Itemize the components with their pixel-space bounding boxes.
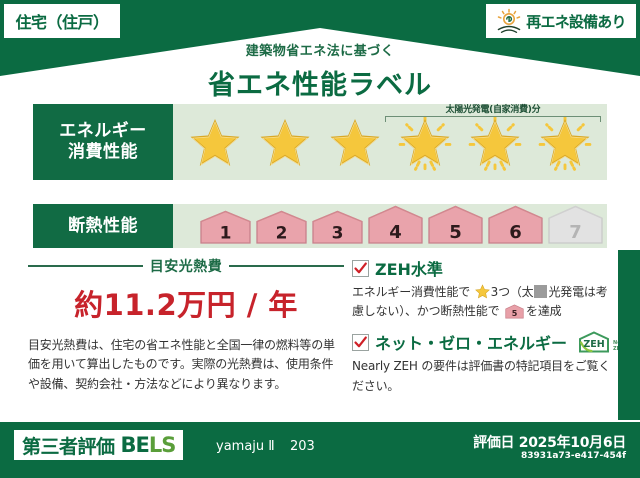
utility-cost-note: 目安光熱費は、住宅の省エネ性能と全国一律の燃料等の単価を用いて算出したものです。… [28,336,344,394]
star-filled [321,112,389,174]
zeh-standard-header: ZEH水準 [352,256,616,280]
star-icon [533,113,597,173]
insulation-levels-panel: 1 2 3 4 5 6 7 [173,204,607,248]
right-green-strip [618,250,640,420]
rule-right [229,265,344,267]
renewable-equipment-label: 再エネ設備あり [526,11,625,32]
utility-cost-amount: 約11.2万円 / 年 [28,282,344,324]
net-zero-energy-header: ネット・ゼロ・エネルギー ZEH NearlyZEH [352,330,616,354]
zeh-standard-body: エネルギー消費性能で 3つ（太光発電は考慮しない）、かつ断熱性能で 5 を達成 [352,283,616,321]
redaction-block [534,285,547,298]
third-party-label: 第三者評価 [22,432,115,459]
housing-type-badge: 住宅（住戸） [4,4,120,38]
net-zero-energy-item: ネット・ゼロ・エネルギー ZEH NearlyZEH Nearly ZEH の要… [352,330,616,395]
house-badge-icon: 5 [427,205,484,245]
utility-cost-label: 目安光熱費 [150,256,223,276]
solar-generation-bracket: 太陽光発電(自家消費)分 [385,102,601,122]
zeh-standard-title: ZEH水準 [375,256,443,280]
insulation-level-inactive: 7 [547,205,604,245]
building-name: yamaju Ⅱ [216,439,275,454]
insulation-level-value: 5 [449,222,462,243]
bracket-line [385,116,601,122]
net-zero-energy-body: Nearly ZEH の要件は評価書の特記項目をご覧ください。 [352,357,616,395]
insulation-level-achieved: 4 [367,205,424,245]
star-filled [181,112,249,174]
housing-type-label: 住宅（住戸） [15,9,108,33]
star-filled [251,112,319,174]
insulation-level-achieved: 2 [255,210,308,245]
page-title: 省エネ性能ラベル [0,63,640,102]
zeh-body-post: を達成 [526,304,561,318]
house-badge-icon: 3 [311,210,364,245]
insulation-level-achieved: 1 [199,210,252,245]
title-subtitle: 建築物省エネ法に基づく [0,40,640,59]
sun-icon [496,8,522,34]
title-block: 建築物省エネ法に基づく 省エネ性能ラベル [0,40,640,102]
zeh-standard-item: ZEH水準 エネルギー消費性能で 3つ（太光発電は考慮しない）、かつ断熱性能で … [352,256,616,321]
evaluation-date: 評価日 2025年10月6日 [473,432,626,452]
net-zero-energy-title: ネット・ゼロ・エネルギー [375,330,567,354]
star-icon [253,113,317,173]
insulation-tag-label: 断熱性能 [68,216,138,237]
house-badge-icon: 6 [487,205,544,245]
energy-tag-line2: 消費性能 [68,142,138,163]
footer-bar: 第三者評価 BELS yamaju Ⅱ 203 評価日 2025年10月6日 8… [0,422,640,478]
renewable-equipment-badge: 再エネ設備あり [486,4,636,38]
insulation-level-scale: 1 2 3 4 5 6 7 [199,205,604,245]
insulation-performance-tag: 断熱性能 [33,204,173,248]
insulation-level-value: 1 [220,224,232,244]
evaluation-id: 83931a73-e417-454f [521,451,626,461]
energy-performance-tag: エネルギー 消費性能 [33,104,173,180]
insulation-performance-row: 断熱性能 1 2 3 4 5 [33,204,607,248]
utility-cost-heading: 目安光熱費 [28,256,344,276]
inline-level-value: 5 [512,309,518,318]
insulation-level-value: 7 [569,222,582,243]
zeh-house-logo-icon: ZEH [577,330,611,354]
bels-energy-label: 住宅（住戸） 再エネ設備あり 建築物省エネ法に基づく 省エネ性能ラベル [0,0,640,478]
insulation-level-achieved: 5 [427,205,484,245]
solar-bracket-label: 太陽光発電(自家消費)分 [385,102,601,115]
insulation-level-value: 4 [389,222,402,243]
star-icon [475,284,490,299]
check-icon [353,261,368,276]
insulation-level-inline-icon: 5 [505,304,524,319]
zeh-standard-checkbox[interactable] [352,260,369,277]
star-icon [323,113,387,173]
utility-cost-block: 目安光熱費 約11.2万円 / 年 目安光熱費は、住宅の省エネ性能と全国一律の燃… [28,256,344,394]
zeh-body-mid: 3つ（太 [491,285,534,299]
bels-third-party-badge: 第三者評価 BELS [14,430,183,460]
net-zero-energy-checkbox[interactable] [352,334,369,351]
energy-stars-panel: 太陽光発電(自家消費)分 [173,104,607,180]
star-icon [463,113,527,173]
insulation-level-achieved: 3 [311,210,364,245]
star-icon [393,113,457,173]
insulation-level-achieved: 6 [487,205,544,245]
zeh-logo-text: ZEH [583,339,604,350]
rule-left [28,265,143,267]
house-badge-icon: 1 [199,210,252,245]
check-icon [353,335,368,350]
zeh-body-pre: エネルギー消費性能で [352,285,470,299]
star-icon [183,113,247,173]
energy-tag-line1: エネルギー [59,121,147,142]
zeh-block: ZEH水準 エネルギー消費性能で 3つ（太光発電は考慮しない）、かつ断熱性能で … [352,256,616,405]
insulation-level-value: 3 [332,224,344,244]
bels-logo: BELS [121,433,176,457]
house-badge-icon: 2 [255,210,308,245]
insulation-level-value: 2 [276,224,288,244]
unit-number: 203 [290,439,315,454]
house-badge-icon: 7 [547,205,604,245]
insulation-level-value: 6 [509,222,522,243]
energy-performance-row: エネルギー 消費性能 太陽光発電(自家消費)分 [33,104,607,180]
house-badge-icon: 4 [367,205,424,245]
